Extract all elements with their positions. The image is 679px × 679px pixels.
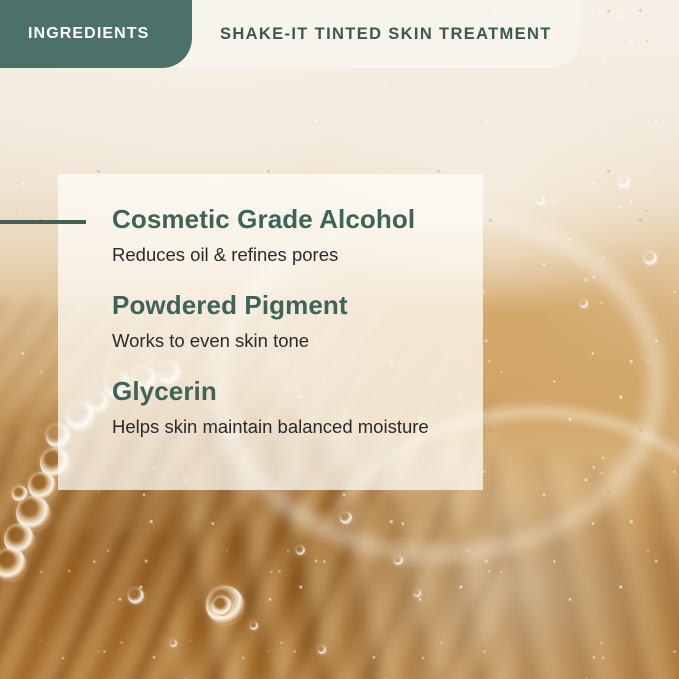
- list-item: Cosmetic Grade Alcohol Reduces oil & ref…: [112, 205, 532, 266]
- list-item: Glycerin Helps skin maintain balanced mo…: [112, 377, 532, 438]
- tab-ingredients[interactable]: INGREDIENTS: [0, 0, 192, 68]
- bubble: [536, 196, 545, 205]
- bubble: [170, 640, 177, 647]
- bubble: [414, 590, 421, 597]
- product-ingredients-panel: SHAKE-IT TINTED SKIN TREATMENT INGREDIEN…: [0, 0, 679, 679]
- bubble: [618, 176, 630, 188]
- bubble: [580, 300, 588, 308]
- accent-rule: [0, 220, 86, 224]
- bubble: [250, 622, 258, 630]
- bubble: [644, 252, 657, 265]
- ingredient-description: Helps skin maintain balanced moisture: [112, 416, 532, 438]
- ingredient-name: Cosmetic Grade Alcohol: [112, 205, 532, 235]
- bubble: [340, 512, 352, 524]
- bubble: [12, 486, 28, 502]
- bubble: [296, 546, 305, 555]
- bubble: [128, 588, 144, 604]
- bubble: [212, 596, 232, 616]
- ingredient-description: Works to even skin tone: [112, 330, 532, 352]
- list-item: Powdered Pigment Works to even skin tone: [112, 291, 532, 352]
- ingredient-name: Powdered Pigment: [112, 291, 532, 321]
- product-title: SHAKE-IT TINTED SKIN TREATMENT: [220, 0, 552, 68]
- bubble: [318, 646, 326, 654]
- ingredient-description: Reduces oil & refines pores: [112, 244, 532, 266]
- ingredient-name: Glycerin: [112, 377, 532, 407]
- tab-ingredients-label: INGREDIENTS: [28, 25, 149, 43]
- bubble: [394, 556, 403, 565]
- ingredients-list: Cosmetic Grade Alcohol Reduces oil & ref…: [112, 205, 532, 438]
